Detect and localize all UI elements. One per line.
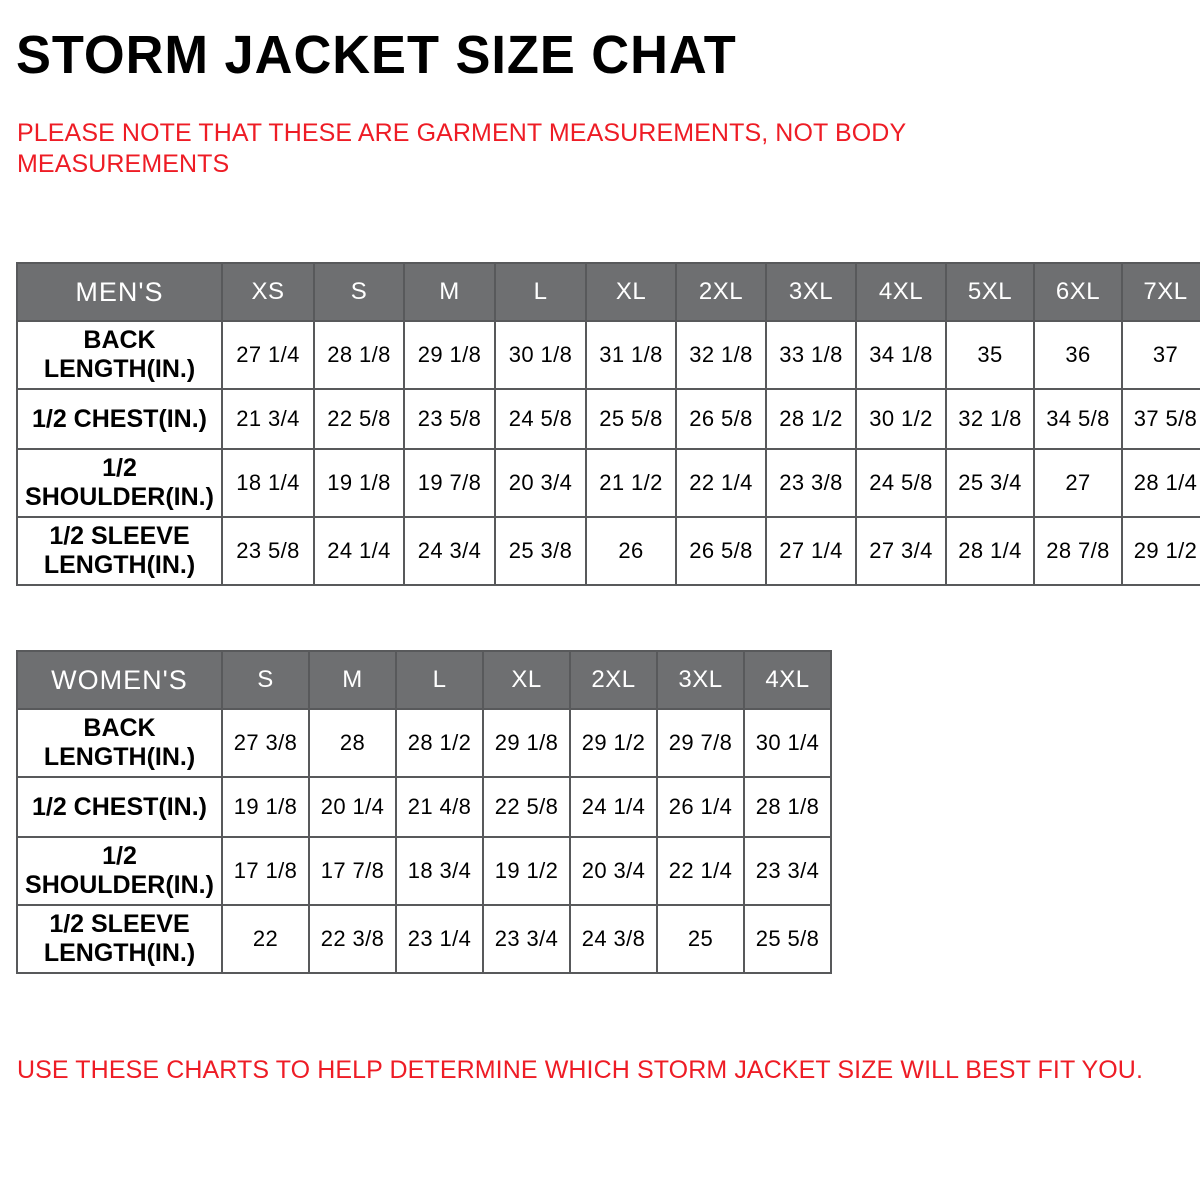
measurement-cell: 21 3/4 <box>222 389 314 449</box>
womens-size-header-2xl: 2XL <box>570 651 657 709</box>
womens-measure-label: 1/2 SHOULDER(IN.) <box>17 837 222 905</box>
measurement-cell: 28 <box>309 709 396 777</box>
measurement-cell: 25 3/8 <box>495 517 586 585</box>
measurement-cell: 24 1/4 <box>314 517 404 585</box>
womens-measure-label: 1/2 SLEEVELENGTH(IN.) <box>17 905 222 973</box>
garment-measurement-note: PLEASE NOTE THAT THESE ARE GARMENT MEASU… <box>17 118 997 180</box>
measurement-cell: 22 1/4 <box>676 449 766 517</box>
measurement-cell: 19 1/2 <box>483 837 570 905</box>
measurement-cell: 25 <box>657 905 744 973</box>
mens-size-header-4xl: 4XL <box>856 263 946 321</box>
measurement-cell: 18 3/4 <box>396 837 483 905</box>
measurement-cell: 30 1/4 <box>744 709 831 777</box>
measurement-cell: 28 1/8 <box>744 777 831 837</box>
measurement-cell: 29 7/8 <box>657 709 744 777</box>
womens-size-header-xl: XL <box>483 651 570 709</box>
measurement-cell: 20 3/4 <box>570 837 657 905</box>
measurement-cell: 33 1/8 <box>766 321 856 389</box>
measurement-cell: 29 1/2 <box>1122 517 1200 585</box>
mens-size-header-2xl: 2XL <box>676 263 766 321</box>
measurement-cell: 17 7/8 <box>309 837 396 905</box>
size-chart-page: STORM JACKET SIZE CHAT PLEASE NOTE THAT … <box>0 0 1200 1200</box>
measurement-cell: 24 3/4 <box>404 517 495 585</box>
measurement-cell: 27 3/8 <box>222 709 309 777</box>
measurement-cell: 25 5/8 <box>744 905 831 973</box>
mens-size-table: MEN'SXSSMLXL2XL3XL4XL5XL6XL7XL BACKLENGT… <box>16 262 1200 586</box>
mens-size-header-m: M <box>404 263 495 321</box>
womens-size-header-l: L <box>396 651 483 709</box>
mens-size-header-6xl: 6XL <box>1034 263 1122 321</box>
measurement-cell: 22 3/8 <box>309 905 396 973</box>
mens-measure-label: 1/2 CHEST(IN.) <box>17 389 222 449</box>
womens-table-head: WOMEN'SSMLXL2XL3XL4XL <box>17 651 831 709</box>
measurement-cell: 29 1/2 <box>570 709 657 777</box>
measurement-cell: 21 1/2 <box>586 449 676 517</box>
table-row: 1/2 SHOULDER(IN.)17 1/817 7/818 3/419 1/… <box>17 837 831 905</box>
measurement-cell: 29 1/8 <box>483 709 570 777</box>
table-row: 1/2 SHOULDER(IN.)18 1/419 1/819 7/820 3/… <box>17 449 1200 517</box>
measurement-cell: 23 3/4 <box>483 905 570 973</box>
measurement-cell: 23 5/8 <box>222 517 314 585</box>
measurement-cell: 35 <box>946 321 1034 389</box>
footer-note: USE THESE CHARTS TO HELP DETERMINE WHICH… <box>17 1055 1177 1085</box>
measurement-cell: 28 1/2 <box>396 709 483 777</box>
mens-size-header-xl: XL <box>586 263 676 321</box>
measurement-cell: 21 4/8 <box>396 777 483 837</box>
mens-measure-label: 1/2 SHOULDER(IN.) <box>17 449 222 517</box>
measurement-cell: 22 5/8 <box>314 389 404 449</box>
mens-size-header-s: S <box>314 263 404 321</box>
measurement-cell: 37 <box>1122 321 1200 389</box>
table-row: 1/2 SLEEVELENGTH(IN.)23 5/824 1/424 3/42… <box>17 517 1200 585</box>
measurement-cell: 19 1/8 <box>222 777 309 837</box>
measurement-cell: 23 1/4 <box>396 905 483 973</box>
measurement-cell: 36 <box>1034 321 1122 389</box>
measurement-cell: 34 5/8 <box>1034 389 1122 449</box>
womens-measure-label: 1/2 CHEST(IN.) <box>17 777 222 837</box>
table-row: 1/2 CHEST(IN.)19 1/820 1/421 4/822 5/824… <box>17 777 831 837</box>
measurement-cell: 26 1/4 <box>657 777 744 837</box>
mens-size-header-7xl: 7XL <box>1122 263 1200 321</box>
womens-size-header-4xl: 4XL <box>744 651 831 709</box>
mens-measure-label: 1/2 SLEEVELENGTH(IN.) <box>17 517 222 585</box>
measurement-cell: 32 1/8 <box>946 389 1034 449</box>
measurement-cell: 30 1/8 <box>495 321 586 389</box>
measurement-cell: 24 5/8 <box>495 389 586 449</box>
mens-table-body: BACKLENGTH(IN.)27 1/428 1/829 1/830 1/83… <box>17 321 1200 585</box>
table-row: BACKLENGTH(IN.)27 1/428 1/829 1/830 1/83… <box>17 321 1200 389</box>
measurement-cell: 23 5/8 <box>404 389 495 449</box>
measurement-cell: 28 1/8 <box>314 321 404 389</box>
measurement-cell: 27 1/4 <box>766 517 856 585</box>
measurement-cell: 25 5/8 <box>586 389 676 449</box>
measurement-cell: 27 3/4 <box>856 517 946 585</box>
measurement-cell: 26 5/8 <box>676 517 766 585</box>
measurement-cell: 22 5/8 <box>483 777 570 837</box>
measurement-cell: 32 1/8 <box>676 321 766 389</box>
measurement-cell: 20 1/4 <box>309 777 396 837</box>
measurement-cell: 29 1/8 <box>404 321 495 389</box>
mens-size-header-l: L <box>495 263 586 321</box>
measurement-cell: 19 7/8 <box>404 449 495 517</box>
measurement-cell: 22 1/4 <box>657 837 744 905</box>
page-title: STORM JACKET SIZE CHAT <box>16 24 737 86</box>
measurement-cell: 19 1/8 <box>314 449 404 517</box>
womens-size-header-3xl: 3XL <box>657 651 744 709</box>
table-row: 1/2 CHEST(IN.)21 3/422 5/823 5/824 5/825… <box>17 389 1200 449</box>
mens-table-head: MEN'SXSSMLXL2XL3XL4XL5XL6XL7XL <box>17 263 1200 321</box>
measurement-cell: 30 1/2 <box>856 389 946 449</box>
measurement-cell: 27 1/4 <box>222 321 314 389</box>
measurement-cell: 24 5/8 <box>856 449 946 517</box>
mens-header-row: MEN'SXSSMLXL2XL3XL4XL5XL6XL7XL <box>17 263 1200 321</box>
measurement-cell: 20 3/4 <box>495 449 586 517</box>
womens-size-header-m: M <box>309 651 396 709</box>
measurement-cell: 27 <box>1034 449 1122 517</box>
measurement-cell: 26 5/8 <box>676 389 766 449</box>
measurement-cell: 24 3/8 <box>570 905 657 973</box>
measurement-cell: 34 1/8 <box>856 321 946 389</box>
measurement-cell: 28 7/8 <box>1034 517 1122 585</box>
measurement-cell: 37 5/8 <box>1122 389 1200 449</box>
measurement-cell: 18 1/4 <box>222 449 314 517</box>
womens-measure-label: BACKLENGTH(IN.) <box>17 709 222 777</box>
measurement-cell: 24 1/4 <box>570 777 657 837</box>
mens-size-header-3xl: 3XL <box>766 263 856 321</box>
womens-size-header-s: S <box>222 651 309 709</box>
measurement-cell: 25 3/4 <box>946 449 1034 517</box>
mens-measure-label: BACKLENGTH(IN.) <box>17 321 222 389</box>
womens-size-table: WOMEN'SSMLXL2XL3XL4XL BACKLENGTH(IN.)27 … <box>16 650 832 974</box>
measurement-cell: 23 3/4 <box>744 837 831 905</box>
mens-size-header-xs: XS <box>222 263 314 321</box>
table-row: 1/2 SLEEVELENGTH(IN.)2222 3/823 1/423 3/… <box>17 905 831 973</box>
measurement-cell: 28 1/2 <box>766 389 856 449</box>
mens-table-corner-label: MEN'S <box>17 263 222 321</box>
womens-table-corner-label: WOMEN'S <box>17 651 222 709</box>
womens-header-row: WOMEN'SSMLXL2XL3XL4XL <box>17 651 831 709</box>
measurement-cell: 23 3/8 <box>766 449 856 517</box>
measurement-cell: 22 <box>222 905 309 973</box>
table-row: BACKLENGTH(IN.)27 3/82828 1/229 1/829 1/… <box>17 709 831 777</box>
measurement-cell: 26 <box>586 517 676 585</box>
measurement-cell: 31 1/8 <box>586 321 676 389</box>
mens-size-header-5xl: 5XL <box>946 263 1034 321</box>
measurement-cell: 28 1/4 <box>1122 449 1200 517</box>
measurement-cell: 17 1/8 <box>222 837 309 905</box>
measurement-cell: 28 1/4 <box>946 517 1034 585</box>
womens-table-body: BACKLENGTH(IN.)27 3/82828 1/229 1/829 1/… <box>17 709 831 973</box>
